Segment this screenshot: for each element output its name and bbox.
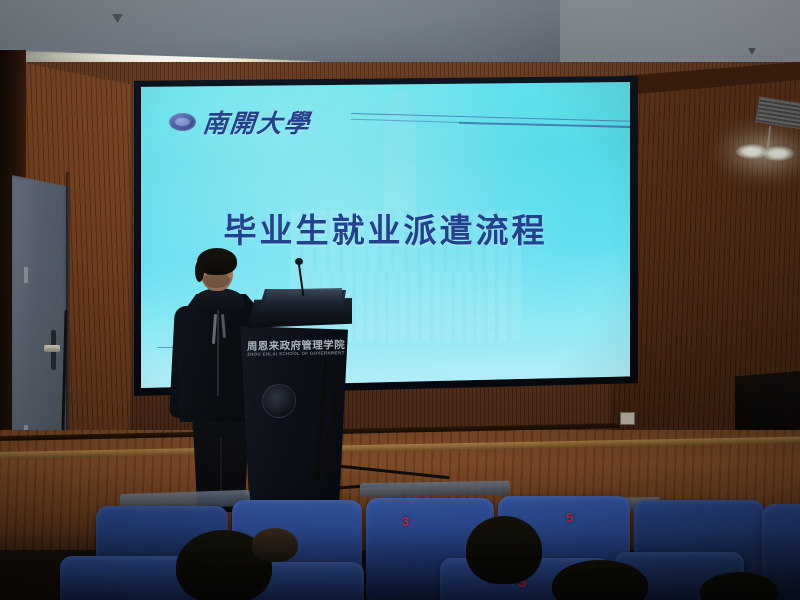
university-logo: 南開大學	[169, 104, 311, 140]
presenter-hair-side	[195, 260, 204, 282]
door-handle[interactable]	[44, 345, 60, 352]
audience-hand	[252, 528, 298, 562]
university-logo-text: 南開大學	[201, 104, 313, 140]
ceiling-downlight-right	[762, 146, 794, 161]
seat-number: 3	[402, 514, 409, 529]
presenter-zipper	[217, 310, 219, 396]
desk-surface	[360, 481, 510, 498]
microphone-head-icon	[295, 258, 303, 265]
school-emblem-icon	[262, 384, 296, 418]
lecture-hall-photo: 南開大學 毕业生就业派遣流程 周恩来政	[0, 0, 800, 600]
presenter-hood	[194, 288, 244, 314]
seat-number: 5	[566, 510, 573, 525]
audience-head	[466, 516, 542, 584]
decor-cross-line	[628, 126, 630, 127]
slide-title: 毕业生就业派遣流程	[141, 204, 630, 252]
wall-outlet[interactable]	[620, 412, 635, 425]
nankai-seal-icon	[169, 113, 196, 131]
door-hinge	[24, 267, 28, 283]
